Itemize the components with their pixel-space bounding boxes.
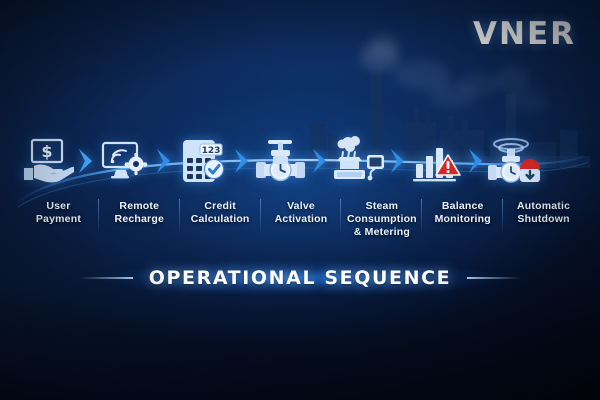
calculator-display-text: 123 [202, 146, 221, 156]
step-label-balance-monitoring: Balance Monitoring [422, 197, 503, 243]
label-line-1: Steam [341, 200, 422, 213]
flow-arrow-3 [232, 146, 252, 176]
step-label-remote-recharge: Remote Recharge [99, 197, 180, 243]
flow-arrow-4 [310, 146, 330, 176]
banner-title: OPERATIONAL SEQUENCE [149, 267, 451, 289]
label-line-1: Credit [180, 200, 261, 213]
label-line-2: Activation [261, 213, 342, 226]
banner: OPERATIONAL SEQUENCE [0, 258, 600, 298]
label-line-1: Valve [261, 200, 342, 213]
step-icon-steam-consumption[interactable] [330, 130, 388, 192]
step-label-credit-calculation: Credit Calculation [180, 197, 261, 243]
flow-arrow-5 [388, 146, 408, 176]
step-icon-credit-calculation[interactable]: 123 [174, 130, 232, 192]
label-line-1: Remote [99, 200, 180, 213]
label-line-2: Shutdown [503, 213, 584, 226]
brand-logo: VNER [473, 16, 576, 52]
label-line-1: Automatic [503, 200, 584, 213]
svg-text:$: $ [41, 142, 52, 161]
step-labels-row: User Payment Remote Recharge Credit Calc… [18, 197, 584, 243]
step-icon-balance-monitoring[interactable] [408, 130, 466, 192]
step-icon-automatic-shutdown[interactable] [486, 130, 544, 192]
flow-arrow-2 [154, 146, 174, 176]
banner-rule-left [79, 277, 133, 279]
label-line-2: Monitoring [422, 213, 503, 226]
label-line-2: Payment [18, 213, 99, 226]
step-label-user-payment: User Payment [18, 197, 99, 243]
label-line-1: Balance [422, 200, 503, 213]
label-line-2: Calculation [180, 213, 261, 226]
step-label-valve-activation: Valve Activation [261, 197, 342, 243]
step-icon-remote-recharge[interactable] [96, 130, 154, 192]
step-label-steam-consumption: Steam Consumption & Metering [341, 197, 422, 243]
step-icon-user-payment[interactable]: $ [18, 130, 76, 192]
infographic-canvas: VNER $ [0, 0, 600, 400]
flow-arrow-6 [466, 146, 486, 176]
step-label-automatic-shutdown: Automatic Shutdown [503, 197, 584, 243]
label-line-2: Recharge [99, 213, 180, 226]
label-line-1: User [18, 200, 99, 213]
step-icon-valve-activation[interactable] [252, 130, 310, 192]
flow-arrow-1 [76, 146, 96, 176]
banner-rule-right [467, 277, 521, 279]
process-flow-row: $ [18, 128, 584, 194]
label-line-3: & Metering [341, 226, 422, 239]
label-line-2: Consumption [341, 213, 422, 226]
